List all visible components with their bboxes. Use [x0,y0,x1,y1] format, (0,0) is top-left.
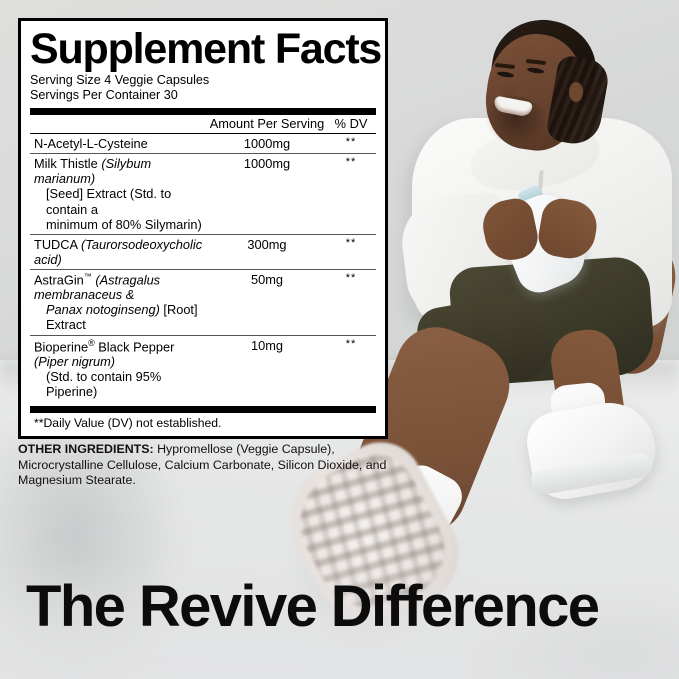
ingredient-amount: 1000mg [208,156,326,171]
rule-thick-bottom [30,406,376,413]
ingredient-detail-line-1: (Std. to contain 95% Piperine) [34,369,208,399]
table-row: AstraGin™ (Astragalus membranaceus & Pan… [30,270,376,335]
ingredient-detail-line-1: Panax notoginseng) [Root] Extract [34,302,208,332]
ingredient-name: N-Acetyl-L-Cysteine [30,136,208,151]
column-header-dv: % DV [326,116,376,131]
photo-nose [500,82,518,98]
ingredient-amount: 50mg [208,272,326,287]
ingredient-dv: ** [326,237,376,250]
table-row: Milk Thistle (Silybum marianum) [Seed] E… [30,154,376,233]
ingredient-dv: ** [326,272,376,285]
ingredient-dv: ** [326,136,376,149]
ingredient-name-text: N-Acetyl-L-Cysteine [34,136,148,151]
rule-thick-top [30,108,376,115]
ingredient-amount: 10mg [208,338,326,353]
servings-per-container-line: Servings Per Container 30 [30,88,376,103]
ingredient-name-text: TUDCA [34,237,81,252]
column-header-row: Amount Per Serving % DV [30,115,376,133]
ingredient-detail-line-1: [Seed] Extract (Std. to contain a [34,186,208,216]
ingredient-amount: 1000mg [208,136,326,151]
other-ingredients: OTHER INGREDIENTS: Hypromellose (Veggie … [18,442,390,489]
serving-size-line: Serving Size 4 Veggie Capsules [30,73,376,88]
ingredient-scientific-name-cont: Panax notoginseng) [46,302,160,317]
ingredient-name: Bioperine® Black Pepper (Piper nigrum) (… [30,338,208,400]
ingredient-name: Milk Thistle (Silybum marianum) [Seed] E… [30,156,208,231]
supplement-facts-panel: Supplement Facts Serving Size 4 Veggie C… [18,18,388,439]
ingredient-name-text: Milk Thistle [34,156,101,171]
trademark-symbol: ™ [84,272,92,281]
ingredient-name: TUDCA (Taurorsodeoxycholic acid) [30,237,208,267]
ingredient-name-text: Bioperine [34,339,88,354]
page-headline: The Revive Difference [26,578,598,636]
ingredient-dv: ** [326,156,376,169]
product-infographic-canvas: Supplement Facts Serving Size 4 Veggie C… [0,0,679,679]
other-ingredients-label: OTHER INGREDIENTS: [18,442,154,456]
photo-ear [569,82,583,102]
supplement-facts-title: Supplement Facts [30,27,376,71]
ingredient-name: AstraGin™ (Astragalus membranaceus & Pan… [30,272,208,333]
ingredient-scientific-name: (Piper nigrum) [34,354,115,369]
ingredient-dv: ** [326,338,376,351]
table-row: TUDCA (Taurorsodeoxycholic acid) 300mg *… [30,235,376,269]
ingredient-name-tail: Black Pepper [95,339,175,354]
column-header-amount: Amount Per Serving [208,116,326,131]
daily-value-footnote: **Daily Value (DV) not established. [30,413,376,431]
registered-symbol: ® [88,338,95,348]
ingredient-detail-line-2: minimum of 80% Silymarin) [34,217,208,232]
ingredient-amount: 300mg [208,237,326,252]
table-row: Bioperine® Black Pepper (Piper nigrum) (… [30,336,376,402]
ingredient-name-text: AstraGin [34,272,84,287]
table-row: N-Acetyl-L-Cysteine 1000mg ** [30,134,376,153]
